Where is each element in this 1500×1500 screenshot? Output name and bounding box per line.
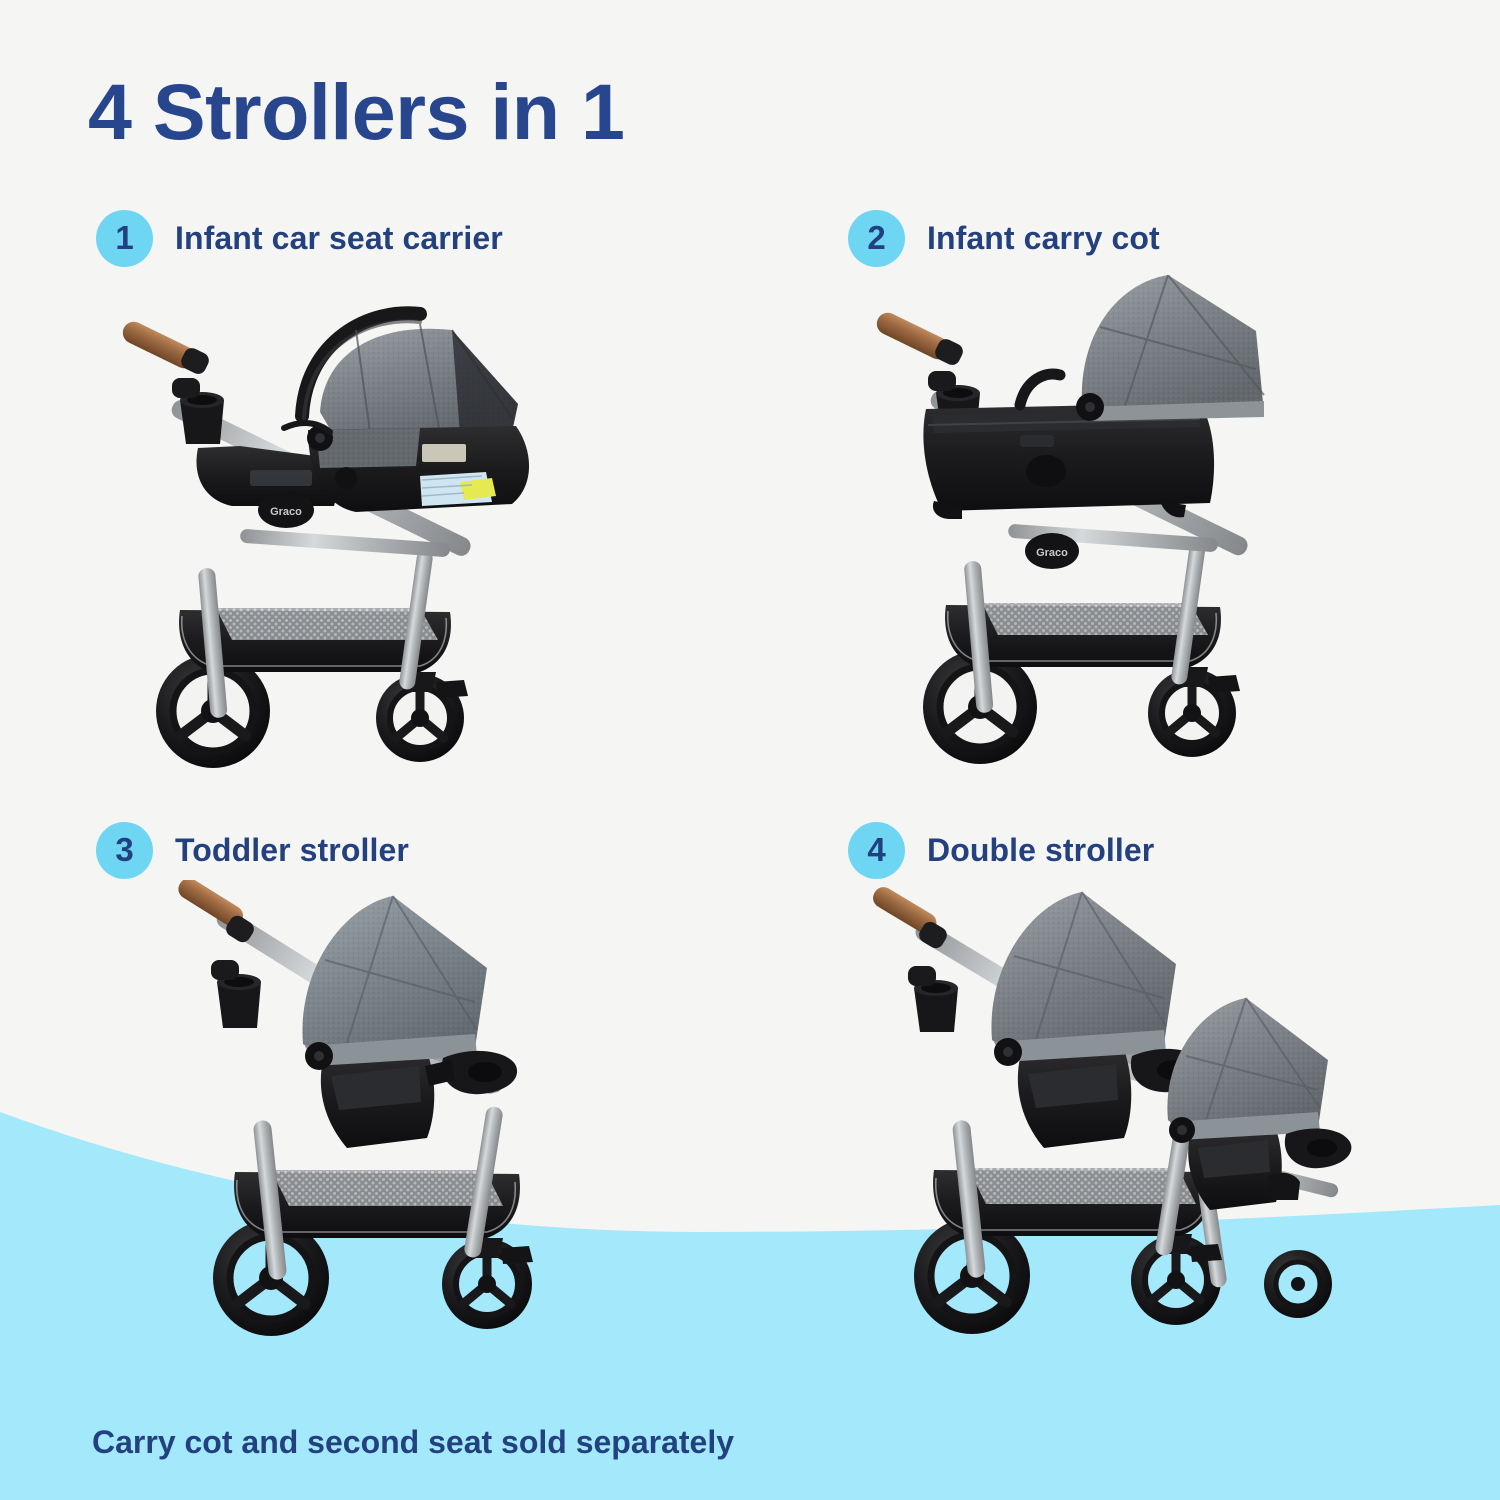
stroller-image-2: Graco [870,275,1320,780]
car-seat-label-top [422,444,466,462]
second-seat-wheel [1264,1250,1332,1318]
handle-grip [120,318,212,377]
infographic-root: 4 Strollers in 1 1 Infant car seat carri… [0,0,1500,1500]
stroller-image-3: Graco [175,880,655,1350]
infant-car-seat [284,313,529,512]
badge-number-2: 2 [848,210,905,267]
brake-pedal [1208,675,1240,693]
footnote-text: Carry cot and second seat sold separatel… [92,1424,734,1461]
panel-caption-3: 3 Toddler stroller [96,822,409,879]
brand-logo-2: Graco [1036,547,1068,559]
infant-car-seat-carrier-illustration: Graco [120,300,550,780]
panel-label-1: Infant car seat carrier [175,220,503,257]
cot-carry-handle [1020,374,1060,405]
panel-label-2: Infant carry cot [927,220,1160,257]
carry-cot [923,403,1214,519]
second-seat-canopy [1167,998,1328,1143]
infant-carry-cot-illustration: Graco [870,275,1320,780]
carry-cot-canopy [1076,275,1264,421]
stroller-image-4: Graco [870,880,1370,1350]
brake-pedal [436,680,468,698]
badge-number-1: 1 [96,210,153,267]
panel-label-4: Double stroller [927,832,1154,869]
cup-holder [908,966,958,1032]
panel-caption-4: 4 Double stroller [848,822,1154,879]
handle-grip [873,309,965,368]
panel-caption-1: 1 Infant car seat carrier [96,210,503,267]
page-title: 4 Strollers in 1 [88,72,624,151]
panel-label-3: Toddler stroller [175,832,409,869]
brand-logo-1: Graco [270,506,302,518]
cup-holder [211,960,261,1028]
badge-number-3: 3 [96,822,153,879]
seat-canopy [302,896,487,1070]
handle-grip [870,883,950,951]
handle-grip [175,880,257,945]
brake-pedal [501,1246,533,1264]
badge-number-4: 4 [848,822,905,879]
double-stroller-illustration: Graco [870,880,1370,1350]
front-seat-canopy [991,892,1176,1066]
panel-caption-2: 2 Infant carry cot [848,210,1160,267]
stroller-image-1: Graco [120,300,550,780]
brake-pedal [1190,1244,1222,1262]
toddler-stroller-illustration: Graco [175,880,655,1350]
